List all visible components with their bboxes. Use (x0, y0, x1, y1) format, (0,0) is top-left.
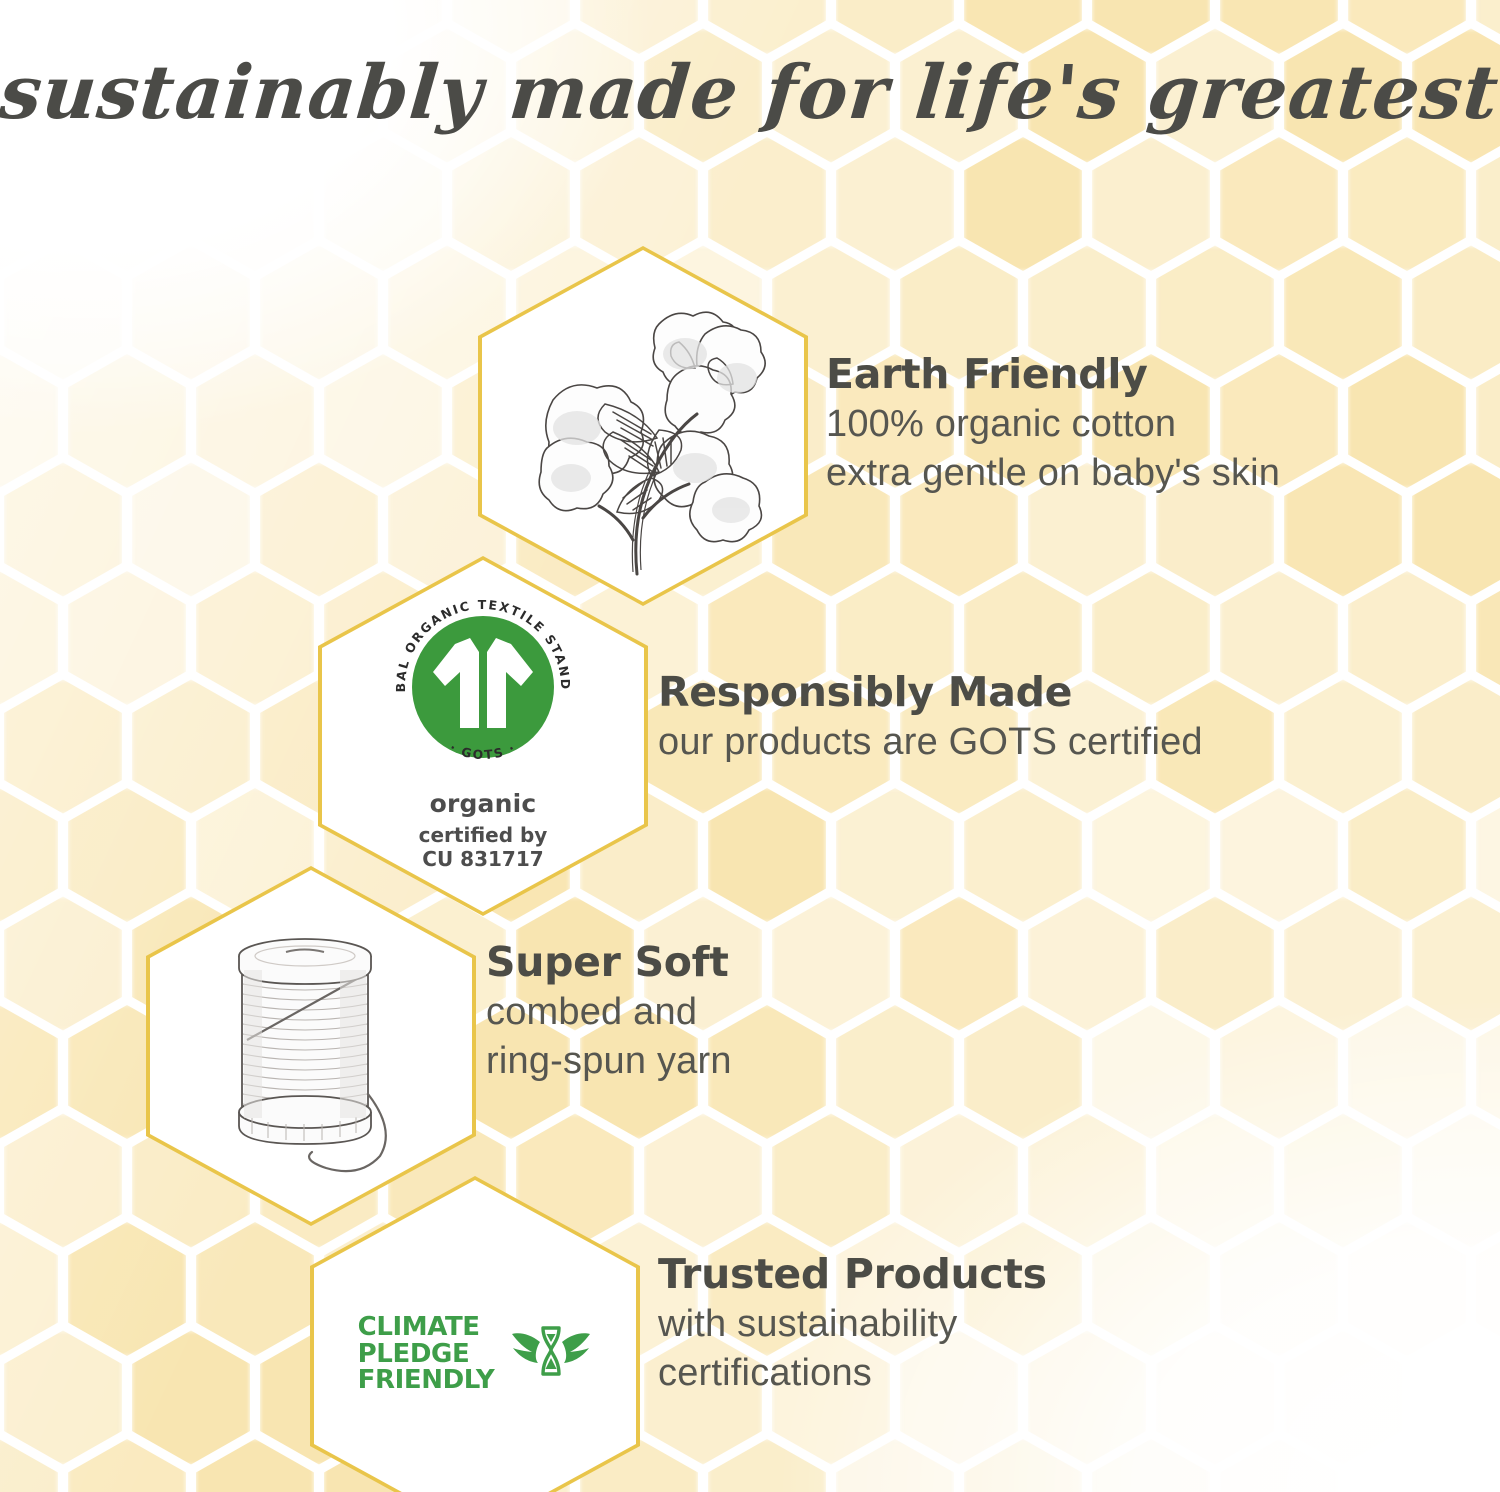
feature-title-earth-friendly: Earth Friendly (826, 350, 1280, 398)
winged-hourglass-icon (510, 1318, 592, 1390)
gots-certified-by: certified by (419, 823, 548, 847)
feature-line-2-earth-friendly: extra gentle on baby's skin (826, 449, 1280, 498)
gots-label-organic: organic (430, 789, 537, 818)
feature-line-1-responsibly-made: our products are GOTS certified (658, 718, 1203, 767)
feature-line-2-super-soft: ring-spun yarn (486, 1037, 732, 1086)
feature-line-1-super-soft: combed and (486, 988, 732, 1037)
feature-line-1-trusted-products: with sustainability (658, 1300, 1047, 1349)
cpf-line-1: CLIMATE (358, 1314, 495, 1341)
cpf-line-2: PLEDGE (358, 1341, 495, 1368)
climate-pledge-friendly-logo: CLIMATE PLEDGE FRIENDLY (358, 1314, 593, 1394)
feature-title-super-soft: Super Soft (486, 938, 732, 986)
feature-text-earth-friendly: Earth Friendly 100% organic cotton extra… (826, 350, 1280, 499)
gots-tshirt-arrows-icon (412, 616, 554, 758)
feature-text-super-soft: Super Soft combed and ring-spun yarn (486, 938, 732, 1087)
feature-line-1-earth-friendly: 100% organic cotton (826, 400, 1280, 449)
feature-hex-card-responsibly-made: GLOBAL ORGANIC TEXTILE STANDARD · GOTS · (318, 556, 648, 916)
feature-title-responsibly-made: Responsibly Made (658, 668, 1203, 716)
feature-text-trusted-products: Trusted Products with sustainability cer… (658, 1250, 1047, 1399)
gots-organic-certification-logo: GLOBAL ORGANIC TEXTILE STANDARD · GOTS · (389, 593, 577, 872)
page-title: sustainably made for life's greatest joy… (0, 50, 1500, 136)
feature-title-trusted-products: Trusted Products (658, 1250, 1047, 1298)
feature-hex-card-super-soft (146, 866, 476, 1226)
cpf-line-3: FRIENDLY (358, 1367, 495, 1394)
thread-spool-illustration (190, 912, 420, 1192)
sustainability-infographic: sustainably made for life's greatest joy… (0, 0, 1500, 1492)
page-title-text: sustainably made for life's greatest joy (0, 50, 1500, 136)
feature-line-2-trusted-products: certifications (658, 1349, 1047, 1398)
feature-text-responsibly-made: Responsibly Made our products are GOTS c… (658, 668, 1203, 767)
feature-hex-card-trusted-products: CLIMATE PLEDGE FRIENDLY (310, 1176, 640, 1492)
cotton-plant-illustration (509, 282, 789, 582)
feature-hex-card-earth-friendly (478, 246, 808, 606)
